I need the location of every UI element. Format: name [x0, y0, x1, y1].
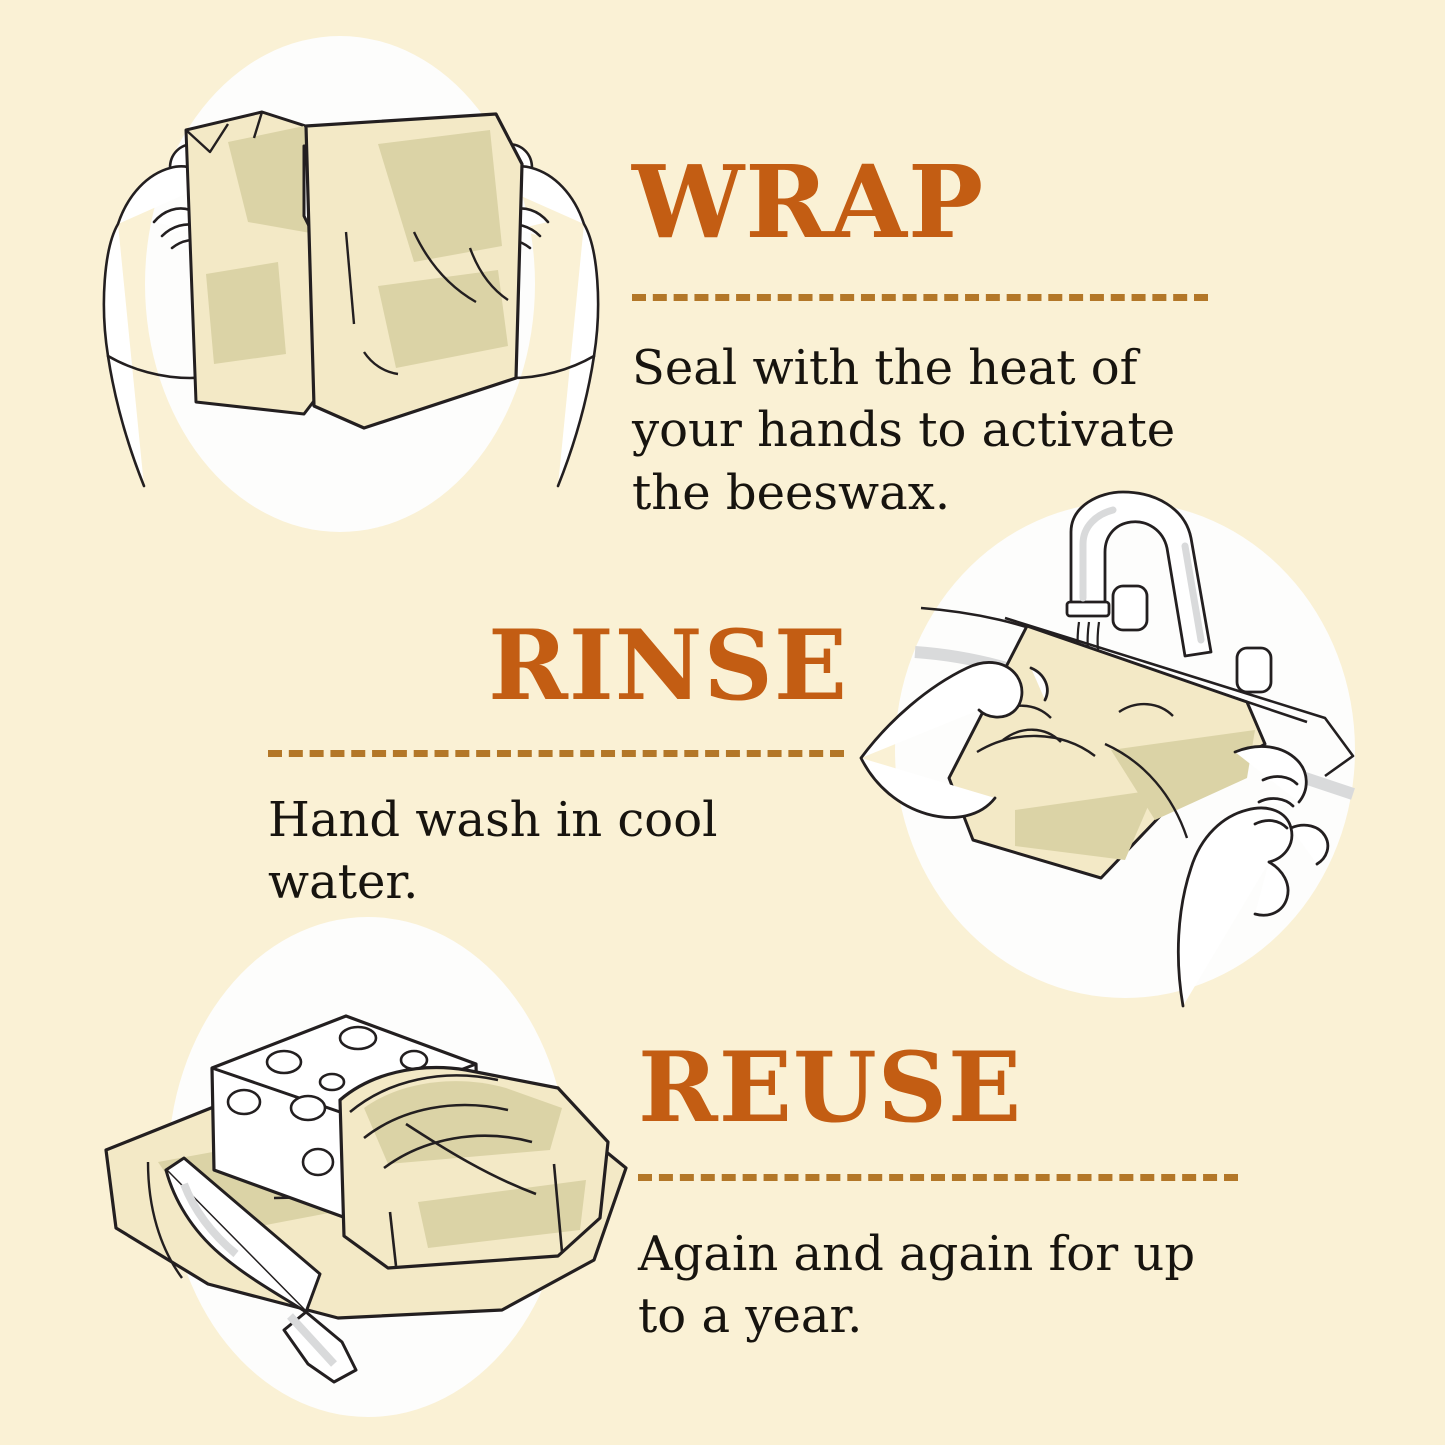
- step-rinse-body: Hand wash in cool water.: [268, 789, 848, 914]
- step-reuse-heading: REUSE: [638, 1040, 1243, 1136]
- step-rinse-heading: RINSE: [268, 618, 848, 714]
- step-wrap-divider: [632, 294, 1208, 301]
- step-reuse-body: Again and again for up to a year.: [638, 1223, 1243, 1348]
- beeswax-wrap-front-flap: [306, 114, 522, 428]
- folded-wrap-bundle: [340, 1068, 608, 1268]
- step-wrap-heading: WRAP: [632, 152, 1232, 252]
- step-reuse-text-block: REUSE Again and again for up to a year.: [638, 1040, 1243, 1348]
- step-rinse-text-block: RINSE Hand wash in cool water.: [268, 618, 848, 914]
- faucet-handle-right: [1237, 648, 1271, 692]
- hands-wrapping-cheese-illustration: [78, 34, 626, 534]
- infographic-canvas: WRAP Seal with the heat of your hands to…: [0, 0, 1445, 1445]
- faucet-handle-left: [1113, 586, 1147, 630]
- step-wrap-text-block: WRAP Seal with the heat of your hands to…: [632, 152, 1232, 524]
- step-rinse-divider: [268, 750, 844, 757]
- cheese-block-knife-and-wrap-illustration: [88, 912, 648, 1422]
- hands-rinsing-wrap-under-faucet-illustration: [855, 490, 1395, 1010]
- step-reuse-divider: [638, 1174, 1238, 1181]
